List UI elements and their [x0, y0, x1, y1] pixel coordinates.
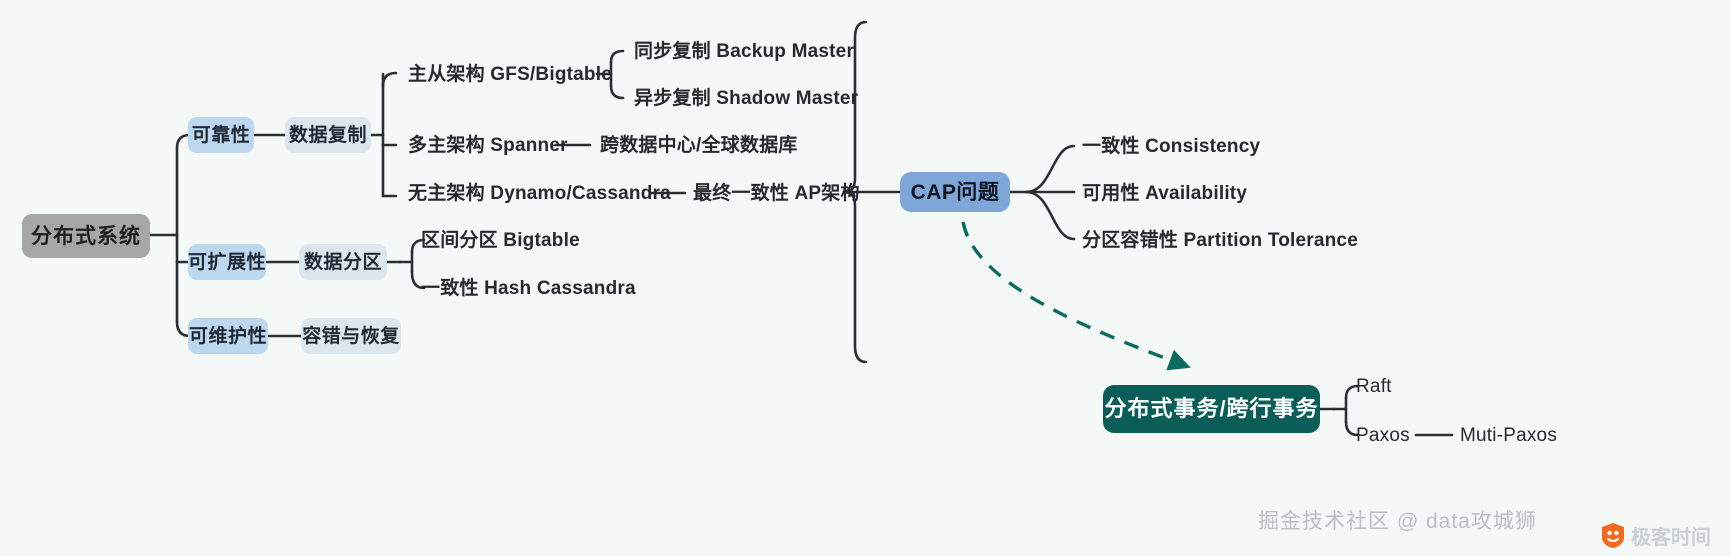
edge-ms-async: [611, 86, 623, 98]
geekbang-logo-icon: [1600, 522, 1626, 549]
edge-rep-to-masterslave: [383, 73, 396, 86]
node-maintainability[interactable]: 可维护性: [188, 318, 268, 354]
node-fault-tolerance-label: 容错与恢复: [302, 327, 400, 346]
node-data-replication[interactable]: 数据复制: [285, 117, 371, 153]
node-scalability-label: 可扩展性: [188, 253, 266, 272]
node-hash-partition-label: 一致性 Hash Cassandra: [421, 279, 636, 298]
node-eventual-consistency[interactable]: 最终一致性 AP架构: [693, 179, 860, 207]
edge-cap-consistency: [1026, 146, 1074, 192]
node-reliability-label: 可靠性: [192, 126, 251, 145]
node-cap-consistency[interactable]: 一致性 Consistency: [1082, 132, 1260, 160]
node-cap-label: CAP问题: [911, 182, 1000, 203]
node-cap-availability[interactable]: 可用性 Availability: [1082, 179, 1247, 207]
node-cap-consistency-label: 一致性 Consistency: [1082, 137, 1260, 156]
node-leaderless[interactable]: 无主架构 Dynamo/Cassandra: [408, 179, 671, 207]
node-cap[interactable]: CAP问题: [900, 172, 1010, 212]
node-distributed-transaction[interactable]: 分布式事务/跨行事务: [1103, 385, 1320, 433]
node-cross-datacenter-label: 跨数据中心/全球数据库: [600, 136, 797, 155]
node-hash-partition[interactable]: 一致性 Hash Cassandra: [421, 274, 636, 302]
node-range-partition[interactable]: 区间分区 Bigtable: [421, 226, 580, 254]
node-leaderless-label: 无主架构 Dynamo/Cassandra: [408, 184, 671, 203]
node-sync-replication-label: 同步复制 Backup Master: [634, 42, 854, 61]
node-raft-label: Raft: [1356, 377, 1392, 396]
edge-ms-sync: [611, 51, 623, 62]
node-root[interactable]: 分布式系统: [22, 214, 150, 258]
node-multi-paxos[interactable]: Muti-Paxos: [1460, 421, 1557, 449]
node-paxos-label: Paxos: [1356, 426, 1410, 445]
node-multi-master-label: 多主架构 Spanner: [408, 136, 568, 155]
node-master-slave-label: 主从架构 GFS/Bigtable: [408, 65, 612, 84]
node-multi-master[interactable]: 多主架构 Spanner: [408, 131, 568, 159]
node-scalability[interactable]: 可扩展性: [188, 244, 266, 280]
node-root-label: 分布式系统: [31, 226, 141, 247]
node-fault-tolerance[interactable]: 容错与恢复: [301, 318, 401, 354]
node-maintainability-label: 可维护性: [189, 327, 267, 346]
node-range-partition-label: 区间分区 Bigtable: [421, 231, 580, 250]
node-data-partition-label: 数据分区: [304, 253, 382, 272]
node-data-partition[interactable]: 数据分区: [299, 244, 387, 280]
node-eventual-consistency-label: 最终一致性 AP架构: [693, 184, 860, 203]
node-reliability[interactable]: 可靠性: [188, 117, 254, 153]
node-raft[interactable]: Raft: [1356, 372, 1392, 400]
node-paxos[interactable]: Paxos: [1356, 421, 1410, 449]
node-async-replication-label: 异步复制 Shadow Master: [634, 89, 858, 108]
node-cross-datacenter[interactable]: 跨数据中心/全球数据库: [600, 131, 797, 159]
node-data-replication-label: 数据复制: [289, 126, 367, 145]
mindmap-canvas: 分布式系统 可靠性 数据复制 主从架构 GFS/Bigtable 同步复制 Ba…: [0, 0, 1730, 556]
node-multi-paxos-label: Muti-Paxos: [1460, 426, 1557, 445]
node-cap-availability-label: 可用性 Availability: [1082, 184, 1247, 203]
node-distributed-transaction-label: 分布式事务/跨行事务: [1104, 398, 1318, 420]
node-master-slave[interactable]: 主从架构 GFS/Bigtable: [408, 60, 612, 88]
node-cap-partition-tolerance[interactable]: 分区容错性 Partition Tolerance: [1082, 226, 1358, 254]
watermark-brand: 极客时间: [1600, 521, 1711, 550]
node-sync-replication[interactable]: 同步复制 Backup Master: [634, 37, 854, 65]
watermark-brand-label: 极客时间: [1631, 521, 1711, 550]
node-cap-partition-tolerance-label: 分区容错性 Partition Tolerance: [1082, 231, 1358, 250]
edge-cap-partition: [1026, 192, 1074, 239]
node-async-replication[interactable]: 异步复制 Shadow Master: [634, 84, 858, 112]
watermark-text: 掘金技术社区 @ data攻城狮: [1258, 505, 1537, 535]
